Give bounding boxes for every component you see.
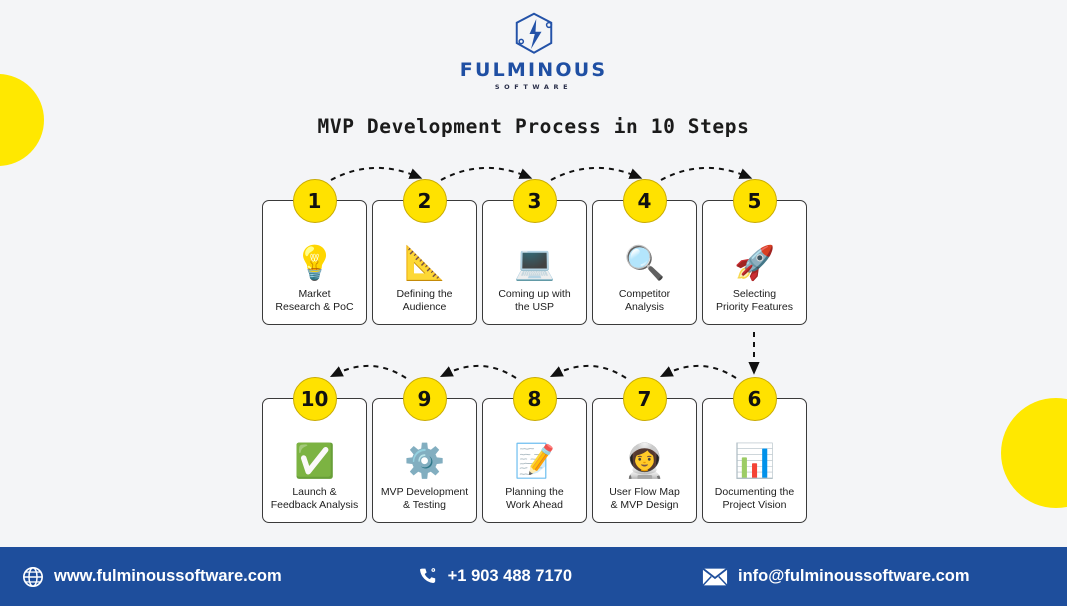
step-label: CompetitorAnalysis <box>615 288 674 315</box>
memo-pencil-icon: 📝 <box>514 441 555 479</box>
step-label: Defining theAudience <box>392 288 456 315</box>
brand-name: FULMINOUS <box>460 59 607 81</box>
rocket-icon: 🚀 <box>734 243 775 281</box>
step-card-10[interactable]: 10 ✅ Launch &Feedback Analysis <box>262 398 367 523</box>
step-label: MarketResearch & PoC <box>271 288 357 315</box>
astronaut-icon: 👩‍🚀 <box>624 441 665 479</box>
step-card-4[interactable]: 4 🔍 CompetitorAnalysis <box>592 200 697 325</box>
step-card-3[interactable]: 3 💻 Coming up withthe USP <box>482 200 587 325</box>
step-card-5[interactable]: 5 🚀 SelectingPriority Features <box>702 200 807 325</box>
step-label: Planning theWork Ahead <box>501 486 567 513</box>
envelope-icon <box>702 567 728 587</box>
process-row-top: 1 💡 MarketResearch & PoC 2 📐 Defining th… <box>262 200 807 325</box>
step-card-8[interactable]: 8 📝 Planning theWork Ahead <box>482 398 587 523</box>
arrow-8-to-9 <box>446 366 516 378</box>
footer-phone[interactable]: +1 903 488 7170 <box>417 566 572 587</box>
phone-text: +1 903 488 7170 <box>448 567 572 586</box>
laptop-icon: 💻 <box>514 243 555 281</box>
decorative-circle-right <box>1001 398 1067 508</box>
gear-icon: ⚙️ <box>404 441 445 479</box>
brand-logo: FULMINOUS SOFTWARE <box>0 10 1067 91</box>
footer-email[interactable]: info@fulminoussoftware.com <box>702 567 970 587</box>
step-label: Coming up withthe USP <box>494 288 574 315</box>
step-number-badge: 6 <box>733 377 777 421</box>
step-number-badge: 7 <box>623 377 667 421</box>
check-mark-icon: ✅ <box>294 441 335 479</box>
arrow-9-to-10 <box>336 366 406 378</box>
arrow-3-to-4 <box>551 168 636 180</box>
step-label: Documenting theProject Vision <box>711 486 798 513</box>
step-label: MVP Development& Testing <box>377 486 472 513</box>
website-text: www.fulminoussoftware.com <box>54 567 282 586</box>
step-number-badge: 10 <box>293 377 337 421</box>
step-card-1[interactable]: 1 💡 MarketResearch & PoC <box>262 200 367 325</box>
arrow-1-to-2 <box>331 168 416 180</box>
step-number-badge: 4 <box>623 179 667 223</box>
step-number-badge: 9 <box>403 377 447 421</box>
hexagon-lightning-logo-icon <box>510 10 558 58</box>
step-card-7[interactable]: 7 👩‍🚀 User Flow Map& MVP Design <box>592 398 697 523</box>
brand-tagline: SOFTWARE <box>495 83 572 91</box>
step-number-badge: 5 <box>733 179 777 223</box>
footer-website[interactable]: www.fulminoussoftware.com <box>22 566 282 588</box>
step-number-badge: 8 <box>513 377 557 421</box>
step-label: Launch &Feedback Analysis <box>267 486 363 513</box>
globe-icon <box>22 566 44 588</box>
magnifying-glass-icon: 🔍 <box>624 243 665 281</box>
step-card-6[interactable]: 6 📊 Documenting theProject Vision <box>702 398 807 523</box>
page-title: MVP Development Process in 10 Steps <box>0 115 1067 138</box>
arrow-2-to-3 <box>441 168 526 180</box>
step-number-badge: 1 <box>293 179 337 223</box>
footer-bar: www.fulminoussoftware.com +1 903 488 717… <box>0 547 1067 606</box>
arrow-7-to-8 <box>556 366 626 378</box>
arrow-6-to-7 <box>666 366 736 378</box>
step-number-badge: 3 <box>513 179 557 223</box>
email-text: info@fulminoussoftware.com <box>738 567 970 586</box>
process-row-bottom: 10 ✅ Launch &Feedback Analysis 9 ⚙️ MVP … <box>262 398 807 523</box>
step-number-badge: 2 <box>403 179 447 223</box>
step-label: SelectingPriority Features <box>712 288 797 315</box>
step-card-9[interactable]: 9 ⚙️ MVP Development& Testing <box>372 398 477 523</box>
step-label: User Flow Map& MVP Design <box>605 486 684 513</box>
phone-icon <box>417 566 438 587</box>
step-card-2[interactable]: 2 📐 Defining theAudience <box>372 200 477 325</box>
lightbulb-icon: 💡 <box>294 243 335 281</box>
arrow-4-to-5 <box>661 168 746 180</box>
bar-chart-icon: 📊 <box>734 441 775 479</box>
triangle-ruler-icon: 📐 <box>404 243 445 281</box>
